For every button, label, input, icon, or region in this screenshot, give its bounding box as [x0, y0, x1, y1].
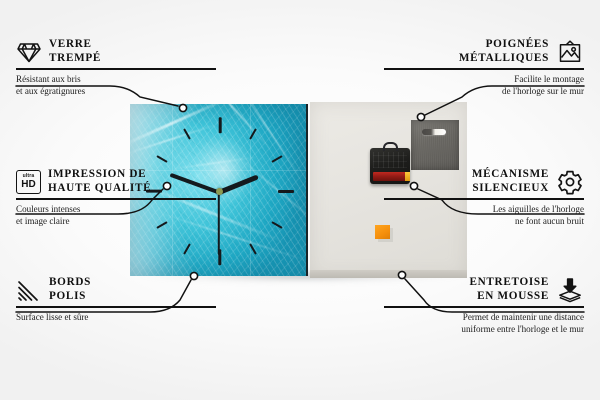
feature-bords-polis: BORDS POLIS Surface lisse et sûre: [16, 276, 216, 323]
feature-rule: [384, 68, 584, 69]
feature-mecanisme-silencieux: MÉCANISME SILENCIEUX Les aiguilles de l'…: [384, 168, 584, 227]
feature-entretoise-en-mousse: ENTRETOISE EN MOUSSE Permet de maintenir…: [384, 276, 584, 335]
diamond-icon: [16, 40, 42, 64]
feature-description: Les aiguilles de l'horloge ne font aucun…: [384, 203, 584, 227]
feature-impression-haute-qualite: ultra HD IMPRESSION DE HAUTE QUALITÉ Cou…: [16, 168, 216, 227]
metal-hanger-plate: [411, 120, 459, 170]
ultra-hd-icon: ultra HD: [16, 170, 41, 194]
feature-title: MÉCANISME SILENCIEUX: [472, 168, 549, 195]
feature-description: Surface lisse et sûre: [16, 311, 216, 323]
hanger-slot: [422, 129, 446, 135]
hour-hand: [218, 174, 259, 194]
polished-edges-icon: [16, 278, 42, 302]
feature-title: VERRE TREMPÉ: [49, 38, 101, 65]
feature-description: Facilite le montage de l'horloge sur le …: [384, 73, 584, 97]
mechanism-texture: [373, 152, 407, 168]
picture-frame-hanger-icon: [556, 39, 584, 65]
ultra-hd-large-text: HD: [21, 180, 35, 190]
feature-title: ENTRETOISE EN MOUSSE: [469, 276, 549, 303]
foam-spacer-pad: [375, 225, 390, 239]
feature-rule: [384, 198, 584, 199]
foam-spacer-arrow-icon: [556, 277, 584, 303]
feature-title: IMPRESSION DE HAUTE QUALITÉ: [48, 168, 151, 195]
ultra-hd-small-text: ultra: [23, 174, 35, 179]
feature-rule: [16, 306, 216, 307]
feature-rule: [16, 68, 216, 69]
feature-rule: [16, 198, 216, 199]
gear-icon: [556, 169, 584, 195]
infographic-root: VERRE TREMPÉ Résistant aux bris et aux é…: [0, 0, 600, 400]
feature-description: Résistant aux bris et aux égratignures: [16, 73, 216, 97]
feature-description: Couleurs intenses et image claire: [16, 203, 216, 227]
feature-verre-trempe: VERRE TREMPÉ Résistant aux bris et aux é…: [16, 38, 216, 97]
feature-title: BORDS POLIS: [49, 276, 91, 303]
second-hand: [218, 192, 220, 254]
feature-rule: [384, 306, 584, 307]
mechanism-hanging-loop: [383, 142, 398, 151]
clock-center-cap: [216, 188, 223, 195]
feature-title: POIGNÉES MÉTALLIQUES: [459, 38, 549, 65]
feature-description: Permet de maintenir une distance uniform…: [384, 311, 584, 335]
feature-poignees-metalliques: POIGNÉES MÉTALLIQUES Facilite le montage…: [384, 38, 584, 97]
